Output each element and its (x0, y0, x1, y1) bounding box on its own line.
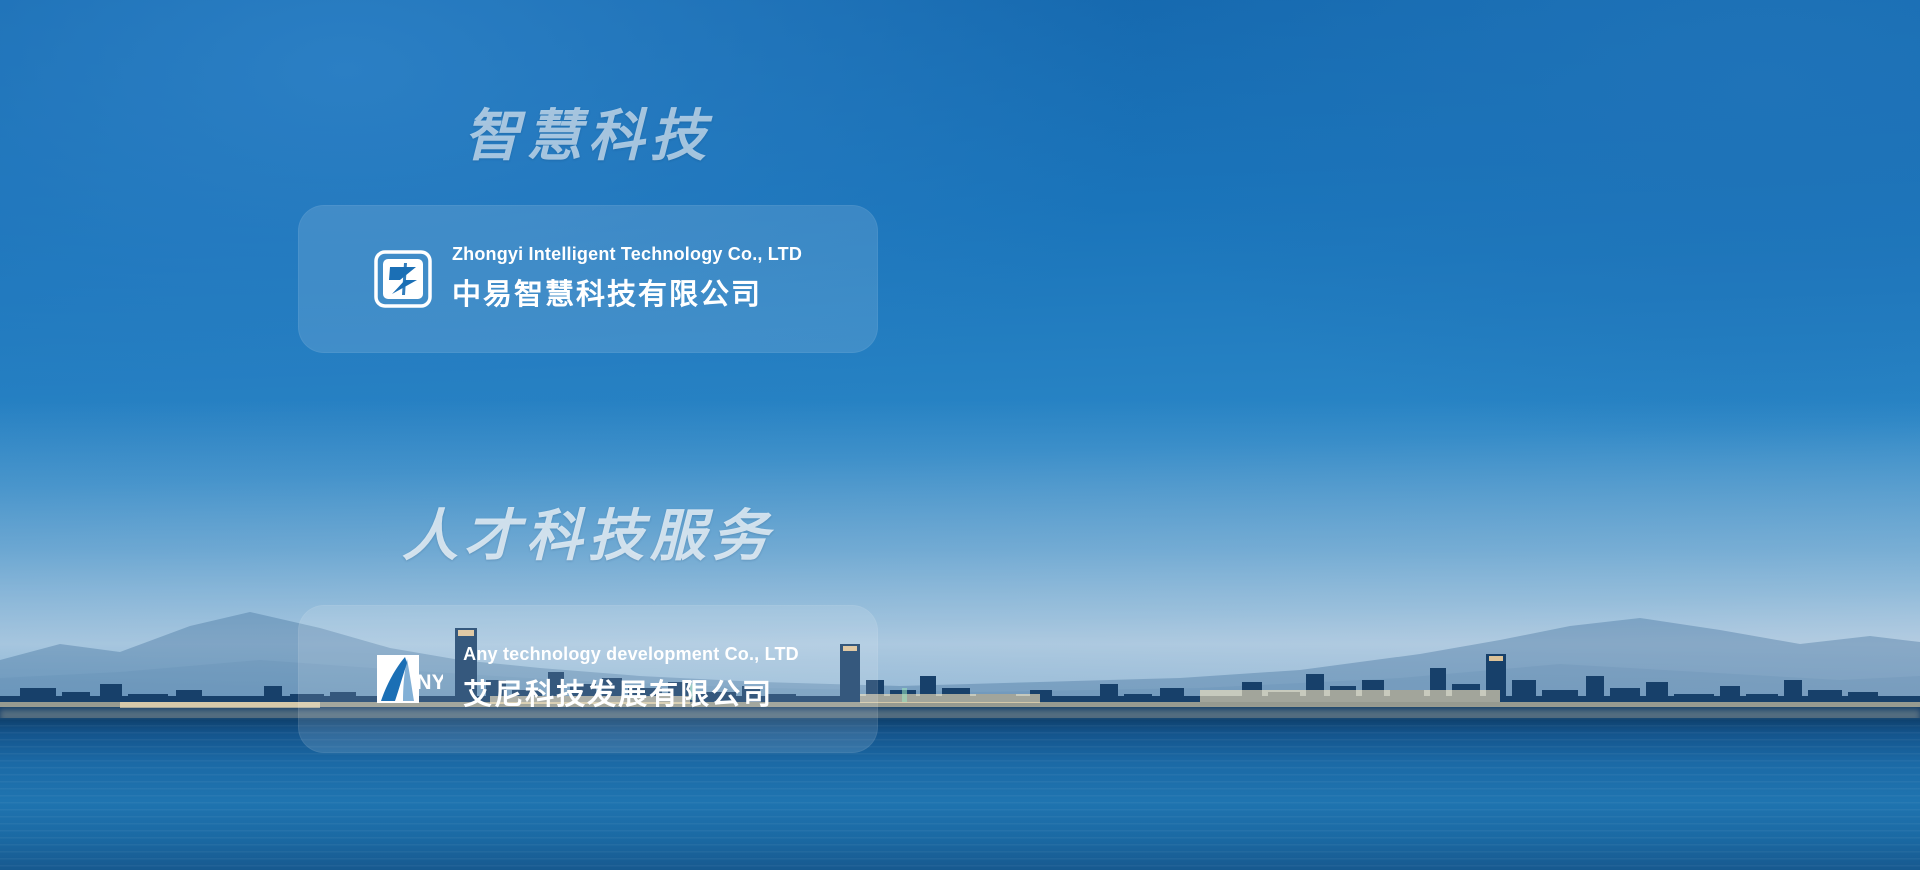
sector-fmcg: 快消品 砚 香 ® Yanxi (960, 0, 1920, 435)
company-card-any-technology[interactable]: NY Any technology development Co., LTD 艾… (298, 605, 878, 753)
company-card-zhongyi[interactable]: Zhongyi Intelligent Technology Co., LTD … (298, 205, 878, 353)
company-name-cn: 中易智慧科技有限公司 (452, 271, 802, 313)
sector-smart-technology: 智慧科技 Zhongyi Intelligent Tech (0, 0, 960, 435)
sector-heading-talent-technology-services: 人才科技服务 (298, 505, 878, 567)
any-triangle-logo-icon: NY (377, 651, 443, 707)
zhongyi-z-logo-icon (374, 250, 432, 308)
sector-heading-smart-technology: 智慧科技 (298, 105, 878, 167)
company-name-en: Any technology development Co., LTD (463, 644, 799, 665)
company-name-en: Zhongyi Intelligent Technology Co., LTD (452, 244, 802, 265)
sector-real-estate-development: 房地产开发 Yanxiang real estate development C… (960, 435, 1920, 870)
page-root: 智慧科技 Zhongyi Intelligent Tech (0, 0, 1920, 870)
company-name-cn: 艾尼科技发展有限公司 (463, 671, 799, 713)
business-sectors-grid: 智慧科技 Zhongyi Intelligent Tech (0, 0, 1920, 870)
svg-text:NY: NY (417, 671, 444, 694)
sector-talent-technology-services: 人才科技服务 NY Any technology devel (0, 435, 960, 870)
